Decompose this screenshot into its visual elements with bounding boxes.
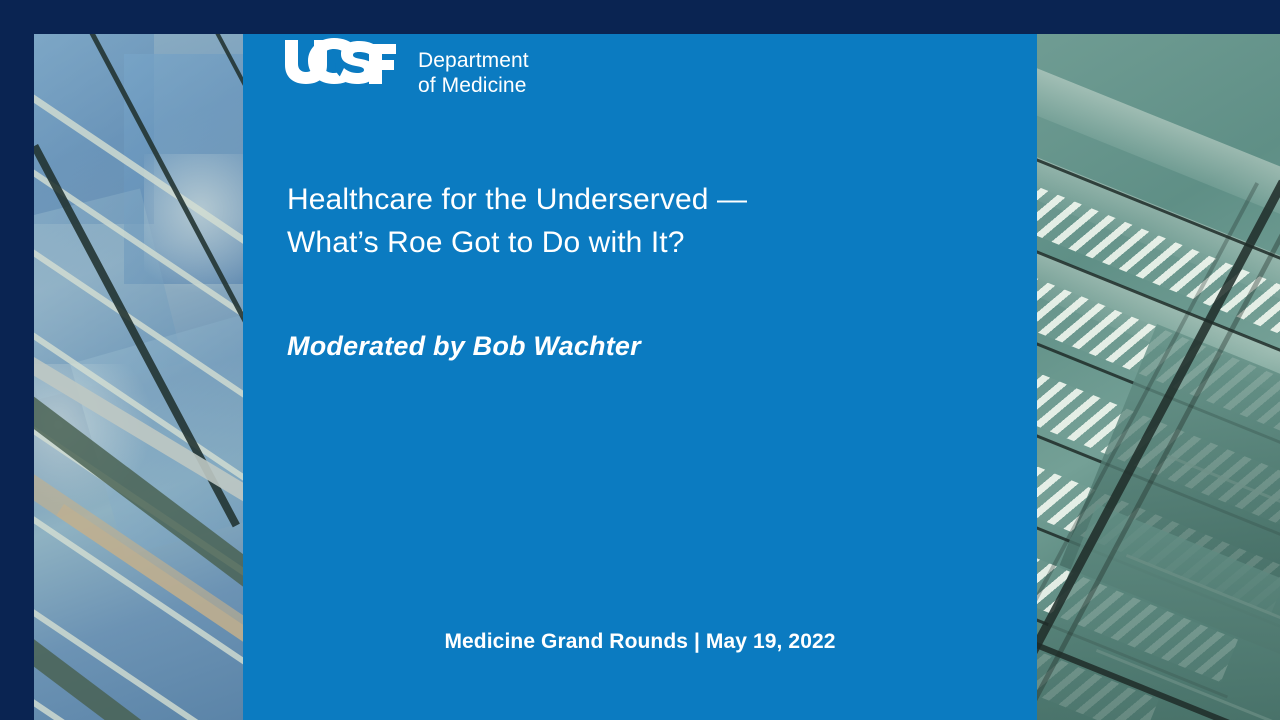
content-panel: Department of Medicine Healthcare for th… — [243, 0, 1037, 720]
slide-footer: Medicine Grand Rounds | May 19, 2022 — [243, 627, 1037, 657]
slide-title: Healthcare for the Underserved — What’s … — [287, 178, 987, 264]
department-name: Department of Medicine — [418, 48, 529, 98]
top-navy-band — [0, 0, 1280, 34]
title-slide: Department of Medicine Healthcare for th… — [0, 0, 1280, 720]
left-navy-rail — [0, 0, 34, 720]
moderator-credit: Moderated by Bob Wachter — [287, 328, 641, 364]
title-line-1: Healthcare for the Underserved — — [287, 178, 987, 221]
title-line-2: What’s Roe Got to Do with It? — [287, 221, 987, 264]
left-background-photo — [34, 34, 243, 720]
ucsf-brand-lockup: Department of Medicine — [283, 38, 529, 100]
ucsf-wordmark-icon — [283, 38, 399, 100]
right-background-photo — [1037, 34, 1280, 720]
